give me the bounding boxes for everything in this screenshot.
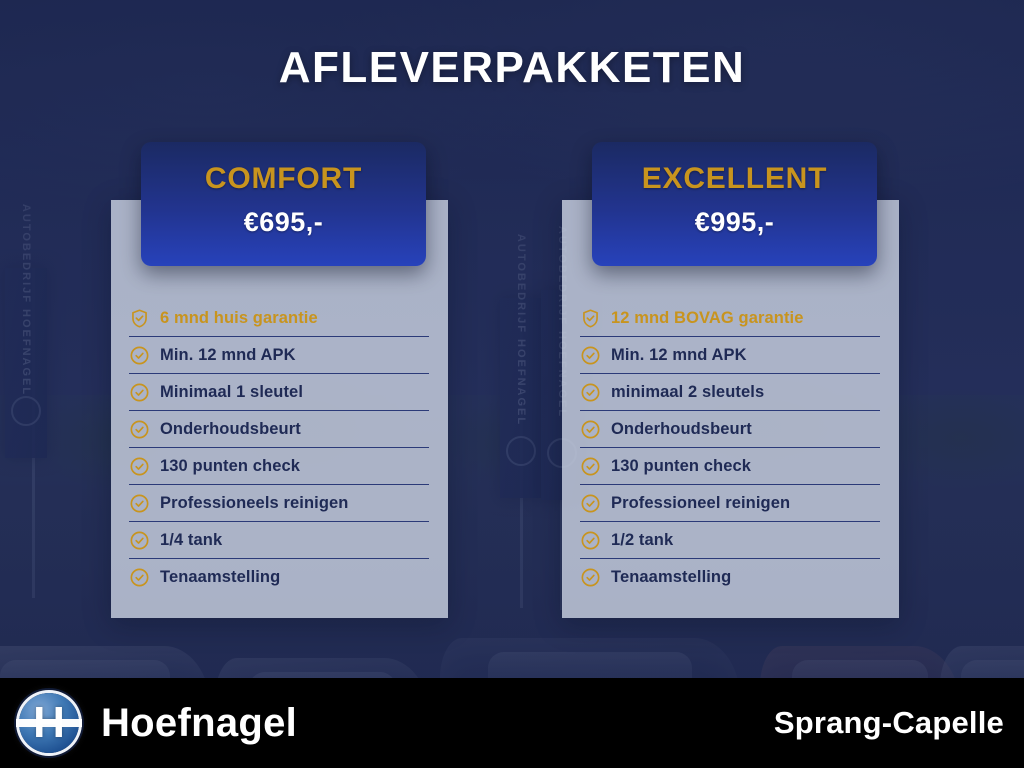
feature-item: Tenaamstelling xyxy=(580,559,880,596)
circle-check-icon xyxy=(580,567,601,588)
logo-crossbar xyxy=(16,719,82,727)
footer-bar: H Hoefnagel Sprang-Capelle xyxy=(0,678,1024,768)
feature-label: 12 mnd BOVAG garantie xyxy=(611,309,804,328)
feature-item: Onderhoudsbeurt xyxy=(580,411,880,448)
feature-item: Professioneel reinigen xyxy=(580,485,880,522)
feature-label: 6 mnd huis garantie xyxy=(160,309,318,328)
feature-item: 1/4 tank xyxy=(129,522,429,559)
circle-check-icon xyxy=(580,419,601,440)
circle-check-icon xyxy=(129,345,150,366)
circle-check-icon xyxy=(580,530,601,551)
feature-item: minimaal 2 sleutels xyxy=(580,374,880,411)
feature-label: Minimaal 1 sleutel xyxy=(160,383,303,402)
location-label: Sprang-Capelle xyxy=(774,705,1004,741)
circle-check-icon xyxy=(129,382,150,403)
feature-list: 6 mnd huis garantieMin. 12 mnd APKMinima… xyxy=(129,300,429,596)
circle-check-icon xyxy=(580,456,601,477)
feature-item: Professioneels reinigen xyxy=(129,485,429,522)
feature-label: minimaal 2 sleutels xyxy=(611,383,764,402)
feature-label: 1/4 tank xyxy=(160,531,222,550)
package-price: €695,- xyxy=(141,207,426,238)
feature-label: Tenaamstelling xyxy=(160,568,280,587)
feature-label: Min. 12 mnd APK xyxy=(160,346,296,365)
feature-item: Tenaamstelling xyxy=(129,559,429,596)
circle-check-icon xyxy=(580,345,601,366)
feature-item: Min. 12 mnd APK xyxy=(129,337,429,374)
circle-check-icon xyxy=(129,456,150,477)
feature-item: Min. 12 mnd APK xyxy=(580,337,880,374)
package-name: EXCELLENT xyxy=(592,162,877,196)
feature-label: 1/2 tank xyxy=(611,531,673,550)
circle-check-icon xyxy=(129,419,150,440)
circle-check-icon xyxy=(580,493,601,514)
page-title: AFLEVERPAKKETEN xyxy=(0,43,1024,93)
feature-item: Onderhoudsbeurt xyxy=(129,411,429,448)
feature-item: 12 mnd BOVAG garantie xyxy=(580,300,880,337)
package-card-header: EXCELLENT €995,- xyxy=(592,142,877,266)
package-card-header: COMFORT €695,- xyxy=(141,142,426,266)
shield-check-icon xyxy=(580,308,601,329)
circle-check-icon xyxy=(129,530,150,551)
hoefnagel-logo-icon: H xyxy=(19,693,79,753)
feature-label: 130 punten check xyxy=(611,457,751,476)
brand-name: Hoefnagel xyxy=(101,701,297,746)
shield-check-icon xyxy=(129,308,150,329)
feature-item: 1/2 tank xyxy=(580,522,880,559)
feature-label: Min. 12 mnd APK xyxy=(611,346,747,365)
feature-item: 130 punten check xyxy=(129,448,429,485)
feature-label: Onderhoudsbeurt xyxy=(160,420,301,439)
circle-check-icon xyxy=(580,382,601,403)
feature-list: 12 mnd BOVAG garantieMin. 12 mnd APKmini… xyxy=(580,300,880,596)
package-name: COMFORT xyxy=(141,162,426,196)
feature-item: 130 punten check xyxy=(580,448,880,485)
feature-label: Professioneel reinigen xyxy=(611,494,790,513)
feature-label: 130 punten check xyxy=(160,457,300,476)
feature-label: Onderhoudsbeurt xyxy=(611,420,752,439)
feature-label: Professioneels reinigen xyxy=(160,494,348,513)
circle-check-icon xyxy=(129,493,150,514)
feature-item: Minimaal 1 sleutel xyxy=(129,374,429,411)
feature-label: Tenaamstelling xyxy=(611,568,731,587)
package-price: €995,- xyxy=(592,207,877,238)
circle-check-icon xyxy=(129,567,150,588)
feature-item: 6 mnd huis garantie xyxy=(129,300,429,337)
